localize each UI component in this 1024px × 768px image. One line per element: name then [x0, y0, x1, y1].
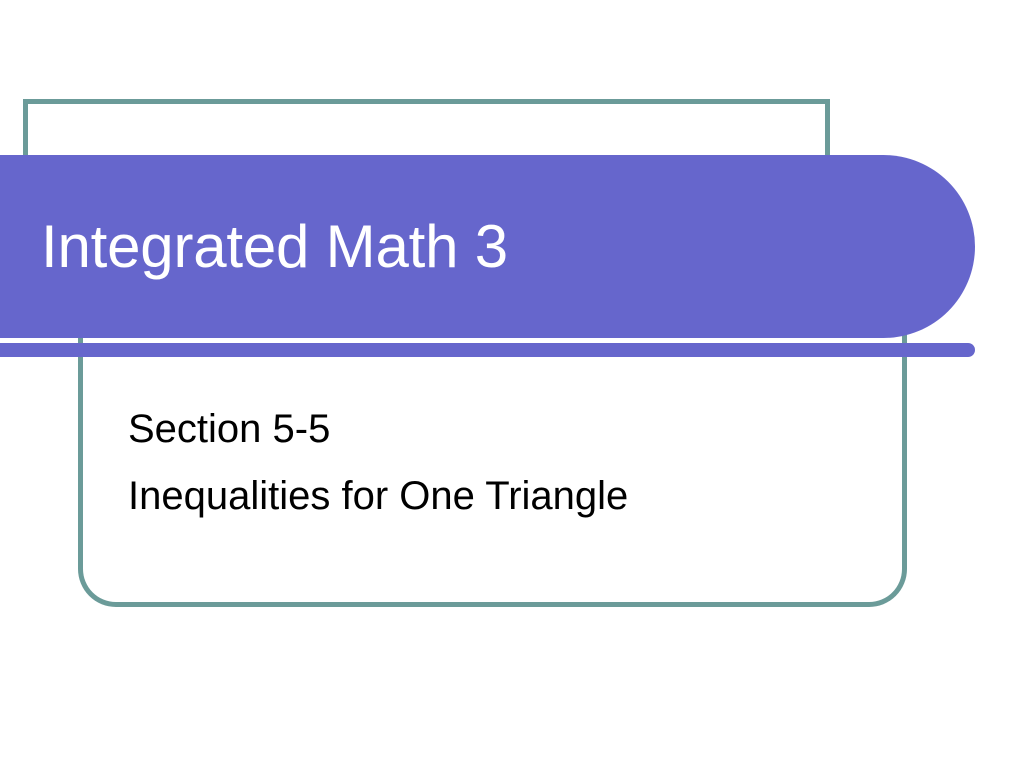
title-underline-stripe [0, 343, 975, 357]
presentation-slide: Integrated Math 3 Section 5-5 Inequaliti… [0, 0, 1024, 768]
slide-body: Section 5-5 Inequalities for One Triangl… [128, 396, 848, 530]
body-line-section: Section 5-5 [128, 396, 848, 463]
body-line-topic: Inequalities for One Triangle [128, 463, 848, 530]
slide-title: Integrated Math 3 [41, 217, 508, 277]
title-banner: Integrated Math 3 [0, 155, 975, 338]
